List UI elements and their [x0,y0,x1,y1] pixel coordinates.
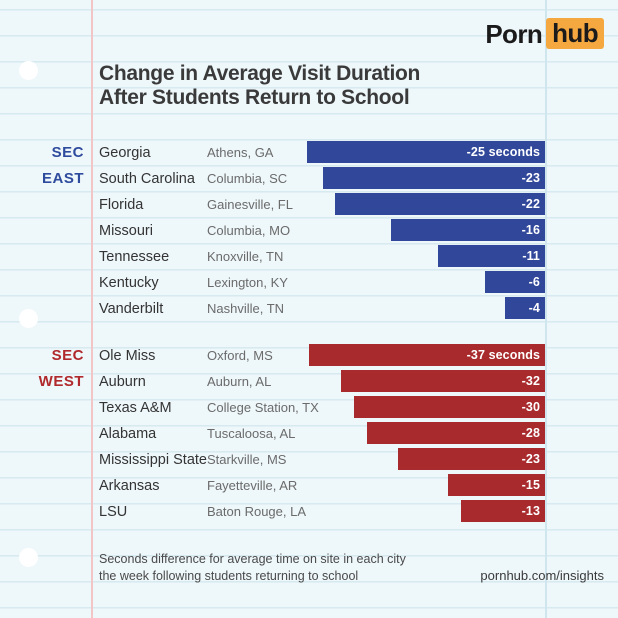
city-name: Baton Rouge, LA [207,499,306,525]
city-name: Knoxville, TN [207,244,283,270]
city-name: Gainesville, FL [207,192,293,218]
city-name: Fayetteville, AR [207,473,297,499]
bar-value-label: -22 [522,197,545,211]
bar: -11 [438,245,545,267]
city-name: Auburn, AL [207,369,271,395]
bar-value-label: -30 [522,400,545,414]
table-row: Arkansas Fayetteville, AR -15 [0,473,618,499]
bar: -28 [367,422,545,444]
bar: -37 seconds [309,344,545,366]
bar-value-label: -32 [522,374,545,388]
table-row: South Carolina Columbia, SC -23 [0,166,618,192]
footer: Seconds difference for average time on s… [99,551,604,585]
bar: -16 [391,219,545,241]
table-row: Mississippi State Starkville, MS -23 [0,447,618,473]
footer-site-url[interactable]: pornhub.com/insights [480,568,604,583]
bar: -30 [354,396,545,418]
city-name: Starkville, MS [207,447,286,473]
punch-hole-bottom [19,548,38,567]
bar-value-label: -13 [522,504,545,518]
team-name: Georgia [99,140,151,166]
bar-rows-sec-west: Ole Miss Oxford, MS -37 seconds Auburn A… [0,343,618,525]
bar: -32 [341,370,545,392]
footer-note-line-1: Seconds difference for average time on s… [99,551,604,568]
bar-value-label: -23 [522,452,545,466]
table-row: Alabama Tuscaloosa, AL -28 [0,421,618,447]
city-name: Columbia, SC [207,166,287,192]
team-name: South Carolina [99,166,195,192]
team-name: Vanderbilt [99,296,163,322]
table-row: Auburn Auburn, AL -32 [0,369,618,395]
bar-value-label: -25 seconds [467,145,545,159]
page-title-line-1: Change in Average Visit Duration [99,62,539,86]
table-row: Georgia Athens, GA -25 seconds [0,140,618,166]
city-name: Columbia, MO [207,218,290,244]
table-row: Kentucky Lexington, KY -6 [0,270,618,296]
team-name: Auburn [99,369,146,395]
table-row: Vanderbilt Nashville, TN -4 [0,296,618,322]
table-row: Florida Gainesville, FL -22 [0,192,618,218]
bar-value-label: -4 [529,301,545,315]
bar: -23 [323,167,545,189]
city-name: Nashville, TN [207,296,284,322]
bar-rows-sec-east: Georgia Athens, GA -25 seconds South Car… [0,140,618,322]
punch-hole-top [19,61,38,80]
bar: -4 [505,297,545,319]
infographic-page: Pornhub Change in Average Visit Duration… [0,0,618,618]
bar: -22 [335,193,545,215]
bar-value-label: -37 seconds [467,348,545,362]
city-name: Oxford, MS [207,343,273,369]
team-name: Ole Miss [99,343,155,369]
team-name: Tennessee [99,244,169,270]
section-sec-west: SEC WEST Ole Miss Oxford, MS -37 seconds… [0,343,618,525]
city-name: Athens, GA [207,140,273,166]
table-row: Tennessee Knoxville, TN -11 [0,244,618,270]
page-title-line-2: After Students Return to School [99,86,539,110]
team-name: Missouri [99,218,153,244]
pornhub-logo: Pornhub [485,18,604,49]
city-name: College Station, TX [207,395,319,421]
bar-value-label: -28 [522,426,545,440]
team-name: Arkansas [99,473,159,499]
table-row: Missouri Columbia, MO -16 [0,218,618,244]
city-name: Lexington, KY [207,270,288,296]
table-row: Texas A&M College Station, TX -30 [0,395,618,421]
team-name: Alabama [99,421,156,447]
table-row: Ole Miss Oxford, MS -37 seconds [0,343,618,369]
bar: -25 seconds [307,141,545,163]
team-name: Kentucky [99,270,159,296]
city-name: Tuscaloosa, AL [207,421,295,447]
bar-value-label: -11 [522,249,545,263]
bar: -23 [398,448,545,470]
bar-value-label: -15 [522,478,545,492]
team-name: Florida [99,192,143,218]
table-row: LSU Baton Rouge, LA -13 [0,499,618,525]
bar-value-label: -23 [522,171,545,185]
page-title: Change in Average Visit Duration After S… [99,62,539,110]
team-name: Texas A&M [99,395,172,421]
logo-text-porn: Porn [485,21,546,47]
section-sec-east: SEC EAST Georgia Athens, GA -25 seconds … [0,140,618,322]
bar-value-label: -16 [522,223,545,237]
team-name: LSU [99,499,127,525]
bar: -6 [485,271,545,293]
team-name: Mississippi State [99,447,207,473]
logo-text-hub: hub [546,18,604,49]
bar: -13 [461,500,545,522]
bar-value-label: -6 [529,275,545,289]
bar: -15 [448,474,545,496]
